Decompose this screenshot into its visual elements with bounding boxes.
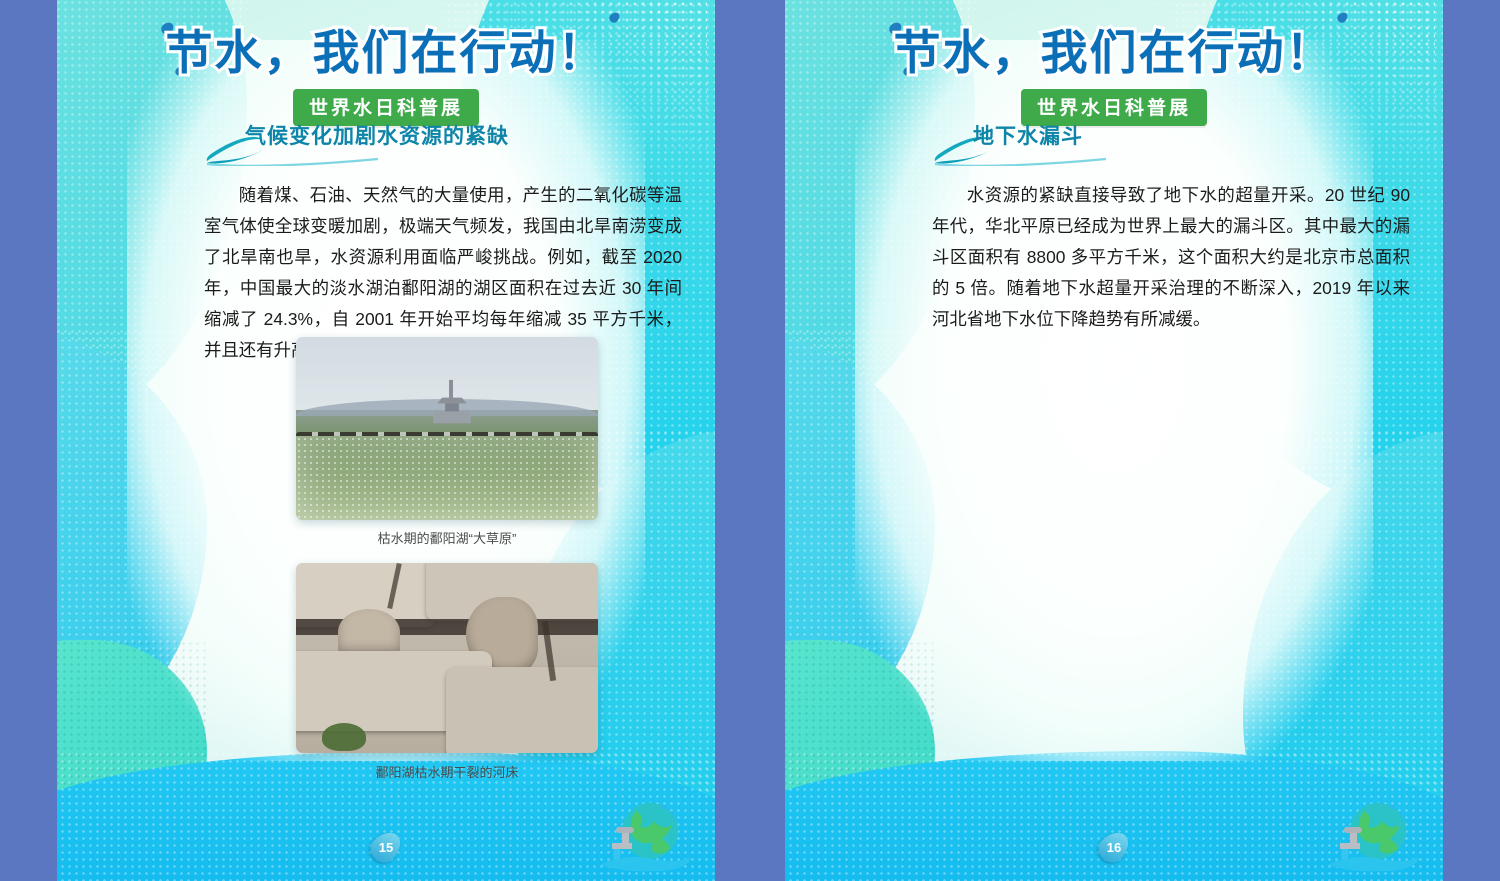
magazine-spread: 节水，我们在行动！ 世界水日科普展 气候变化加剧水资源的紧缺 随着煤、石油、天然…: [0, 0, 1500, 881]
globe-faucet-illustration: [592, 797, 697, 875]
page-number-right: 16: [1101, 831, 1127, 863]
page-number-left: 15: [373, 831, 399, 863]
right-page: 节水，我们在行动！ 世界水日科普展 地下水漏斗 水资源的紧缺直接导致了地下水的超…: [785, 0, 1443, 881]
main-title: 节水，我们在行动！: [166, 14, 607, 83]
water-drop-icon: [607, 10, 621, 24]
globe-faucet-illustration: [1320, 797, 1425, 875]
section-title-text: 气候变化加剧水资源的紧缺: [205, 120, 509, 150]
left-page: 节水，我们在行动！ 世界水日科普展 气候变化加剧水资源的紧缺 随着煤、石油、天然…: [57, 0, 715, 881]
page-header: 节水，我们在行动！ 世界水日科普展: [57, 14, 715, 126]
page-number-right-text: 16: [1101, 831, 1127, 863]
photo-poyang-grassland: [296, 337, 598, 520]
photo-cracked-riverbed: [296, 563, 598, 753]
photo2-caption: 鄱阳湖枯水期干裂的河床: [296, 762, 598, 781]
section-heading-left: 气候变化加剧水资源的紧缺: [205, 120, 509, 150]
main-title: 节水，我们在行动！: [894, 14, 1335, 83]
pagoda-icon: [429, 374, 475, 425]
section-title-text: 地下水漏斗: [933, 120, 1083, 150]
page-header: 节水，我们在行动！ 世界水日科普展: [785, 14, 1443, 126]
page-number-left-text: 15: [373, 831, 399, 863]
section-heading-right: 地下水漏斗: [933, 120, 1083, 150]
photo1-caption: 枯水期的鄱阳湖“大草原”: [296, 528, 598, 547]
right-paragraph: 水资源的紧缺直接导致了地下水的超量开采。20 世纪 90 年代，华北平原已经成为…: [932, 180, 1410, 335]
water-drop-icon: [1335, 10, 1349, 24]
right-body-text: 水资源的紧缺直接导致了地下水的超量开采。20 世纪 90 年代，华北平原已经成为…: [932, 180, 1410, 335]
